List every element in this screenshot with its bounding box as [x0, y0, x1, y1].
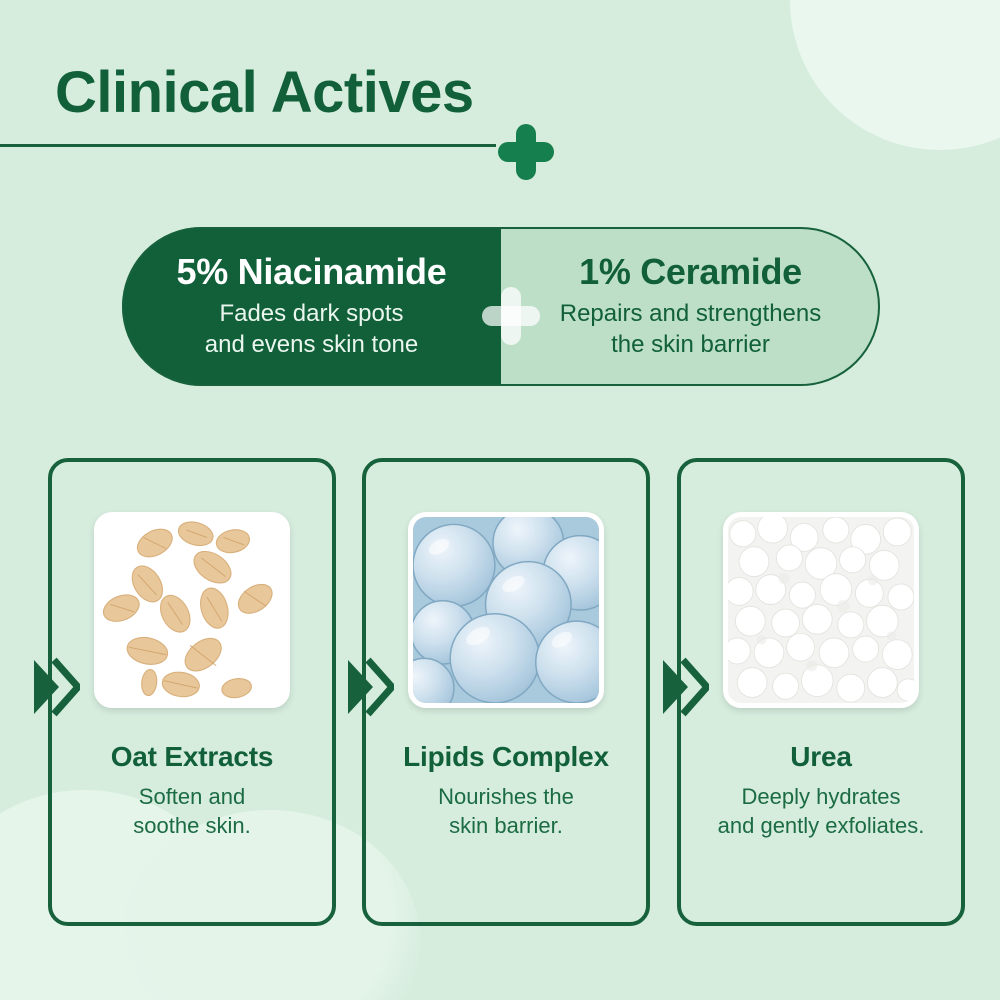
double-chevron-right-icon	[342, 654, 394, 720]
banner-plus-icon	[482, 287, 540, 345]
plus-icon	[498, 124, 554, 180]
banner-ceramide-description: Repairs and strengthens the skin barrier	[560, 299, 822, 360]
ingredient-card[interactable]: Oat Extracts Soften and soothe skin.	[48, 458, 336, 926]
ingredient-card-description: Soften and soothe skin.	[123, 782, 260, 840]
ingredient-card-title: Oat Extracts	[111, 742, 274, 773]
banner-niacinamide: 5% Niacinamide Fades dark spots and even…	[122, 227, 501, 386]
page-title: Clinical Actives	[55, 62, 620, 125]
double-chevron-right-icon	[28, 654, 80, 720]
double-chevron-right-icon	[657, 654, 709, 720]
ingredient-card-row: Oat Extracts Soften and soothe skin.	[0, 458, 1000, 928]
ingredient-card-description: Deeply hydrates and gently exfoliates.	[708, 782, 935, 840]
ingredient-card-title: Urea	[790, 742, 851, 773]
ingredient-card-title: Lipids Complex	[403, 742, 609, 773]
lipid-bubbles-image	[408, 512, 604, 708]
oat-flakes-image	[94, 512, 290, 708]
ingredient-card[interactable]: Lipids Complex Nourishes the skin barrie…	[362, 458, 650, 926]
banner-niacinamide-description: Fades dark spots and evens skin tone	[205, 299, 418, 360]
banner-niacinamide-heading: 5% Niacinamide	[177, 252, 447, 292]
banner-ceramide: 1% Ceramide Repairs and strengthens the …	[501, 227, 880, 386]
urea-granules-image	[723, 512, 919, 708]
title-underline	[0, 144, 496, 147]
ingredient-card[interactable]: Urea Deeply hydrates and gently exfoliat…	[677, 458, 965, 926]
decorative-blob-top-right	[790, 0, 1000, 150]
ingredient-card-description: Nourishes the skin barrier.	[428, 782, 584, 840]
infographic-canvas: Clinical Actives 5% Niacinamide Fades da…	[0, 0, 1000, 1000]
banner-ceramide-heading: 1% Ceramide	[579, 252, 802, 292]
header: Clinical Actives	[0, 62, 620, 125]
